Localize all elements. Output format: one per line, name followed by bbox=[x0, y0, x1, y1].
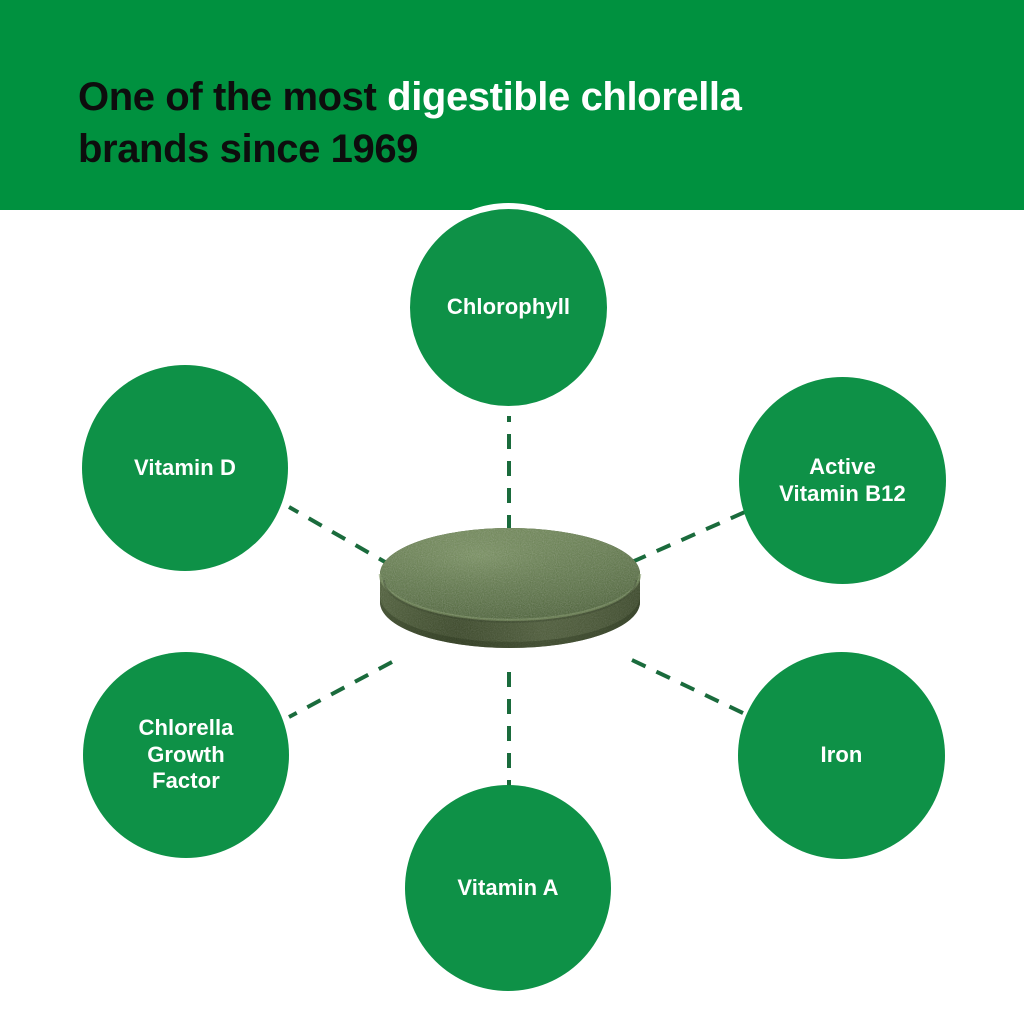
node-label-vitamin-a: Vitamin A bbox=[447, 875, 568, 902]
node-chlorophyll[interactable]: Chlorophyll bbox=[404, 203, 613, 412]
node-chlorella-growth-factor[interactable]: Chlorella Growth Factor bbox=[83, 652, 289, 858]
node-iron[interactable]: Iron bbox=[738, 652, 945, 859]
chlorella-tablet-image bbox=[376, 524, 644, 676]
page-title: One of the most digestible chlorellabran… bbox=[78, 71, 978, 175]
connector-to-iron bbox=[632, 660, 745, 714]
node-label-chlorella-growth-factor: Chlorella Growth Factor bbox=[128, 715, 243, 795]
headline-segment-dark-1: One of the most bbox=[78, 75, 387, 119]
node-label-vitamin-b12: Active Vitamin B12 bbox=[769, 454, 916, 508]
node-label-iron: Iron bbox=[811, 742, 873, 769]
node-label-chlorophyll: Chlorophyll bbox=[437, 294, 580, 321]
connector-to-vitamin-b12 bbox=[632, 512, 745, 562]
node-label-vitamin-d: Vitamin D bbox=[124, 455, 246, 482]
node-vitamin-d[interactable]: Vitamin D bbox=[82, 365, 288, 571]
headline-segment-highlight: digestible chlorella bbox=[387, 75, 741, 119]
headline-segment-dark-2: brands since 1969 bbox=[78, 127, 418, 171]
tablet-icon bbox=[376, 524, 644, 676]
node-vitamin-a[interactable]: Vitamin A bbox=[405, 785, 611, 991]
node-vitamin-b12[interactable]: Active Vitamin B12 bbox=[739, 377, 946, 584]
infographic-canvas: One of the most digestible chlorellabran… bbox=[0, 0, 1024, 1024]
